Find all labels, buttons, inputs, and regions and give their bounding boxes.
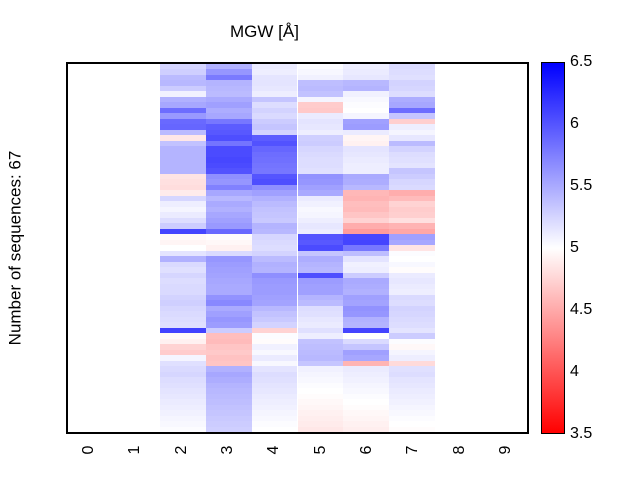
x-tick-label: 0 (80, 446, 98, 455)
x-tick-label: 5 (312, 446, 330, 455)
colorbar-tick-3-5: 3.5 (570, 425, 592, 443)
heatmap-column (160, 64, 206, 432)
colorbar-tick-labels: 6.565.554.543.5 (570, 62, 636, 434)
heatmap-column (389, 64, 435, 432)
colorbar-gradient (541, 62, 565, 434)
x-tick-label: 2 (173, 446, 191, 455)
heatmap-cell (252, 427, 298, 433)
heatmap-cell (160, 427, 206, 433)
heatmap-cell (343, 427, 389, 433)
colorbar-tick-6: 6 (570, 115, 579, 133)
x-tick-label: 8 (451, 446, 469, 455)
x-axis-tick-labels: 0123456789 (66, 436, 529, 480)
colorbar-tick-5-5: 5.5 (570, 177, 592, 195)
page-title: MGW [Å] (0, 22, 529, 42)
heatmap-cell (206, 427, 252, 433)
x-tick-label: 7 (404, 446, 422, 455)
colorbar-tick-4-5: 4.5 (570, 301, 592, 319)
heatmap-column (206, 64, 252, 432)
colorbar-tick-6-5: 6.5 (570, 53, 592, 71)
colorbar-tick-5: 5 (570, 239, 579, 257)
y-axis-label-container: Number of sequences: 67 (0, 62, 30, 434)
heatmap-plot-area (66, 62, 529, 434)
y-axis-label: Number of sequences: 67 (6, 151, 25, 346)
x-tick-label: 9 (497, 446, 515, 455)
heatmap-cells (68, 64, 527, 432)
colorbar (541, 62, 565, 434)
heatmap-cell (389, 427, 435, 433)
colorbar-tick-4: 4 (570, 363, 579, 381)
x-tick-label: 6 (358, 446, 376, 455)
heatmap-column (343, 64, 389, 432)
x-tick-label: 3 (219, 446, 237, 455)
heatmap-column (298, 64, 344, 432)
x-tick-label: 1 (126, 446, 144, 455)
x-tick-label: 4 (265, 446, 283, 455)
heatmap-column (252, 64, 298, 432)
heatmap-cell (298, 427, 344, 433)
